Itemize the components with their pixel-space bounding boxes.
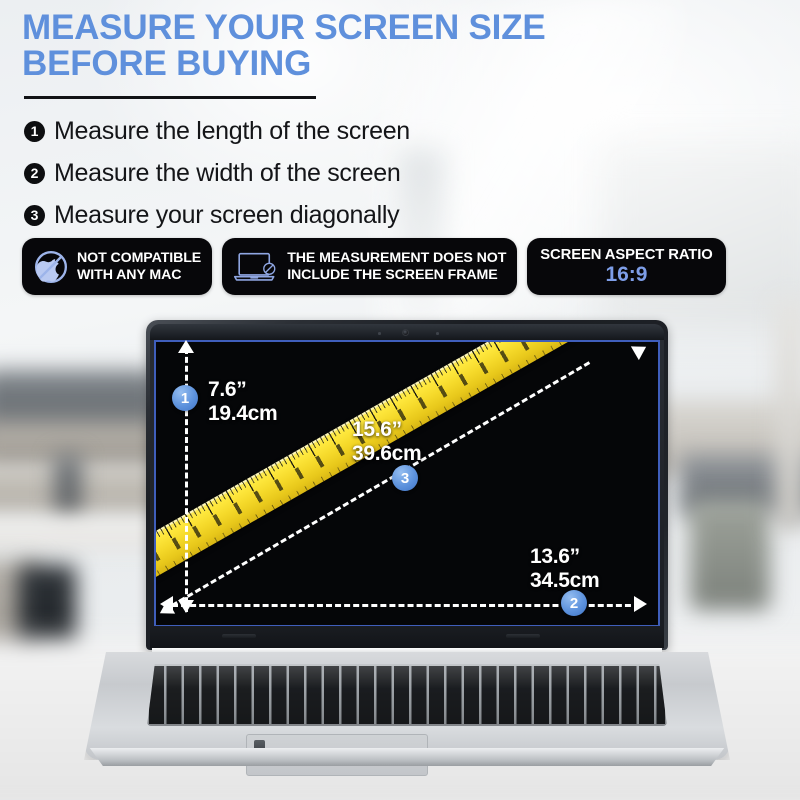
marker-1: 1 (172, 385, 198, 411)
marker-2: 2 (561, 590, 587, 616)
lid-bumper-left (222, 634, 256, 638)
marker-3: 3 (392, 465, 418, 491)
width-inches: 13.6” (530, 545, 580, 568)
microphone-hole-left (378, 332, 381, 335)
laptop-illustration (0, 0, 800, 800)
diagonal-inches: 15.6” (352, 418, 402, 441)
width-cm: 34.5cm (530, 569, 599, 592)
height-cm: 19.4cm (208, 402, 277, 425)
webcam-icon (402, 329, 409, 336)
keyboard (147, 664, 667, 726)
microphone-hole-right (436, 332, 439, 335)
width-arrow-right (634, 596, 647, 612)
lid-bumper-right (506, 634, 540, 638)
product-infographic: MEASURE YOUR SCREEN SIZE BEFORE BUYING 1… (0, 0, 800, 800)
width-measurement-label: 13.6” 34.5cm (530, 545, 599, 592)
diagonal-cm: 39.6cm (352, 442, 421, 465)
height-inches: 7.6” (208, 378, 247, 401)
diagonal-measurement-label: 15.6” 39.6cm (352, 418, 421, 465)
height-arrow-up (178, 340, 194, 353)
laptop-base-front-edge (80, 748, 734, 766)
height-measurement-label: 7.6” 19.4cm (208, 378, 277, 425)
keyboard-sheen (147, 664, 667, 726)
